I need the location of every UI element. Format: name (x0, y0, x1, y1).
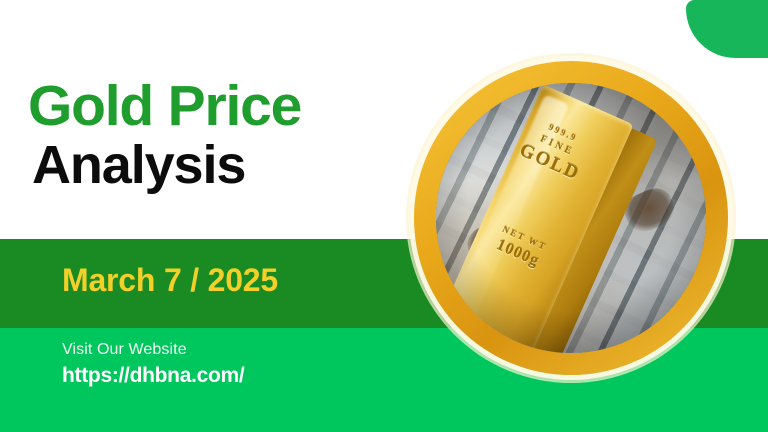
page-title: Gold Price Analysis (28, 78, 301, 192)
gold-price-banner: 999.9 FINE GOLD NET WT 1000g Gold Price … (0, 0, 768, 432)
publication-date: March 7 / 2025 (62, 262, 278, 299)
corner-accent-shape (686, 0, 768, 58)
gold-bar-photo: 999.9 FINE GOLD NET WT 1000g (436, 83, 706, 353)
photo-vignette (436, 83, 706, 353)
medallion-photo-frame: 999.9 FINE GOLD NET WT 1000g (436, 83, 706, 353)
website-url[interactable]: https://dhbna.com/ (62, 364, 244, 388)
medallion-gold-ring: 999.9 FINE GOLD NET WT 1000g (414, 61, 728, 375)
visit-website-label: Visit Our Website (62, 341, 244, 359)
gold-bar-medallion: 999.9 FINE GOLD NET WT 1000g (406, 53, 736, 383)
title-line-gold-price: Gold Price (28, 78, 301, 134)
title-line-analysis: Analysis (32, 138, 301, 192)
website-block: Visit Our Website https://dhbna.com/ (62, 341, 244, 388)
